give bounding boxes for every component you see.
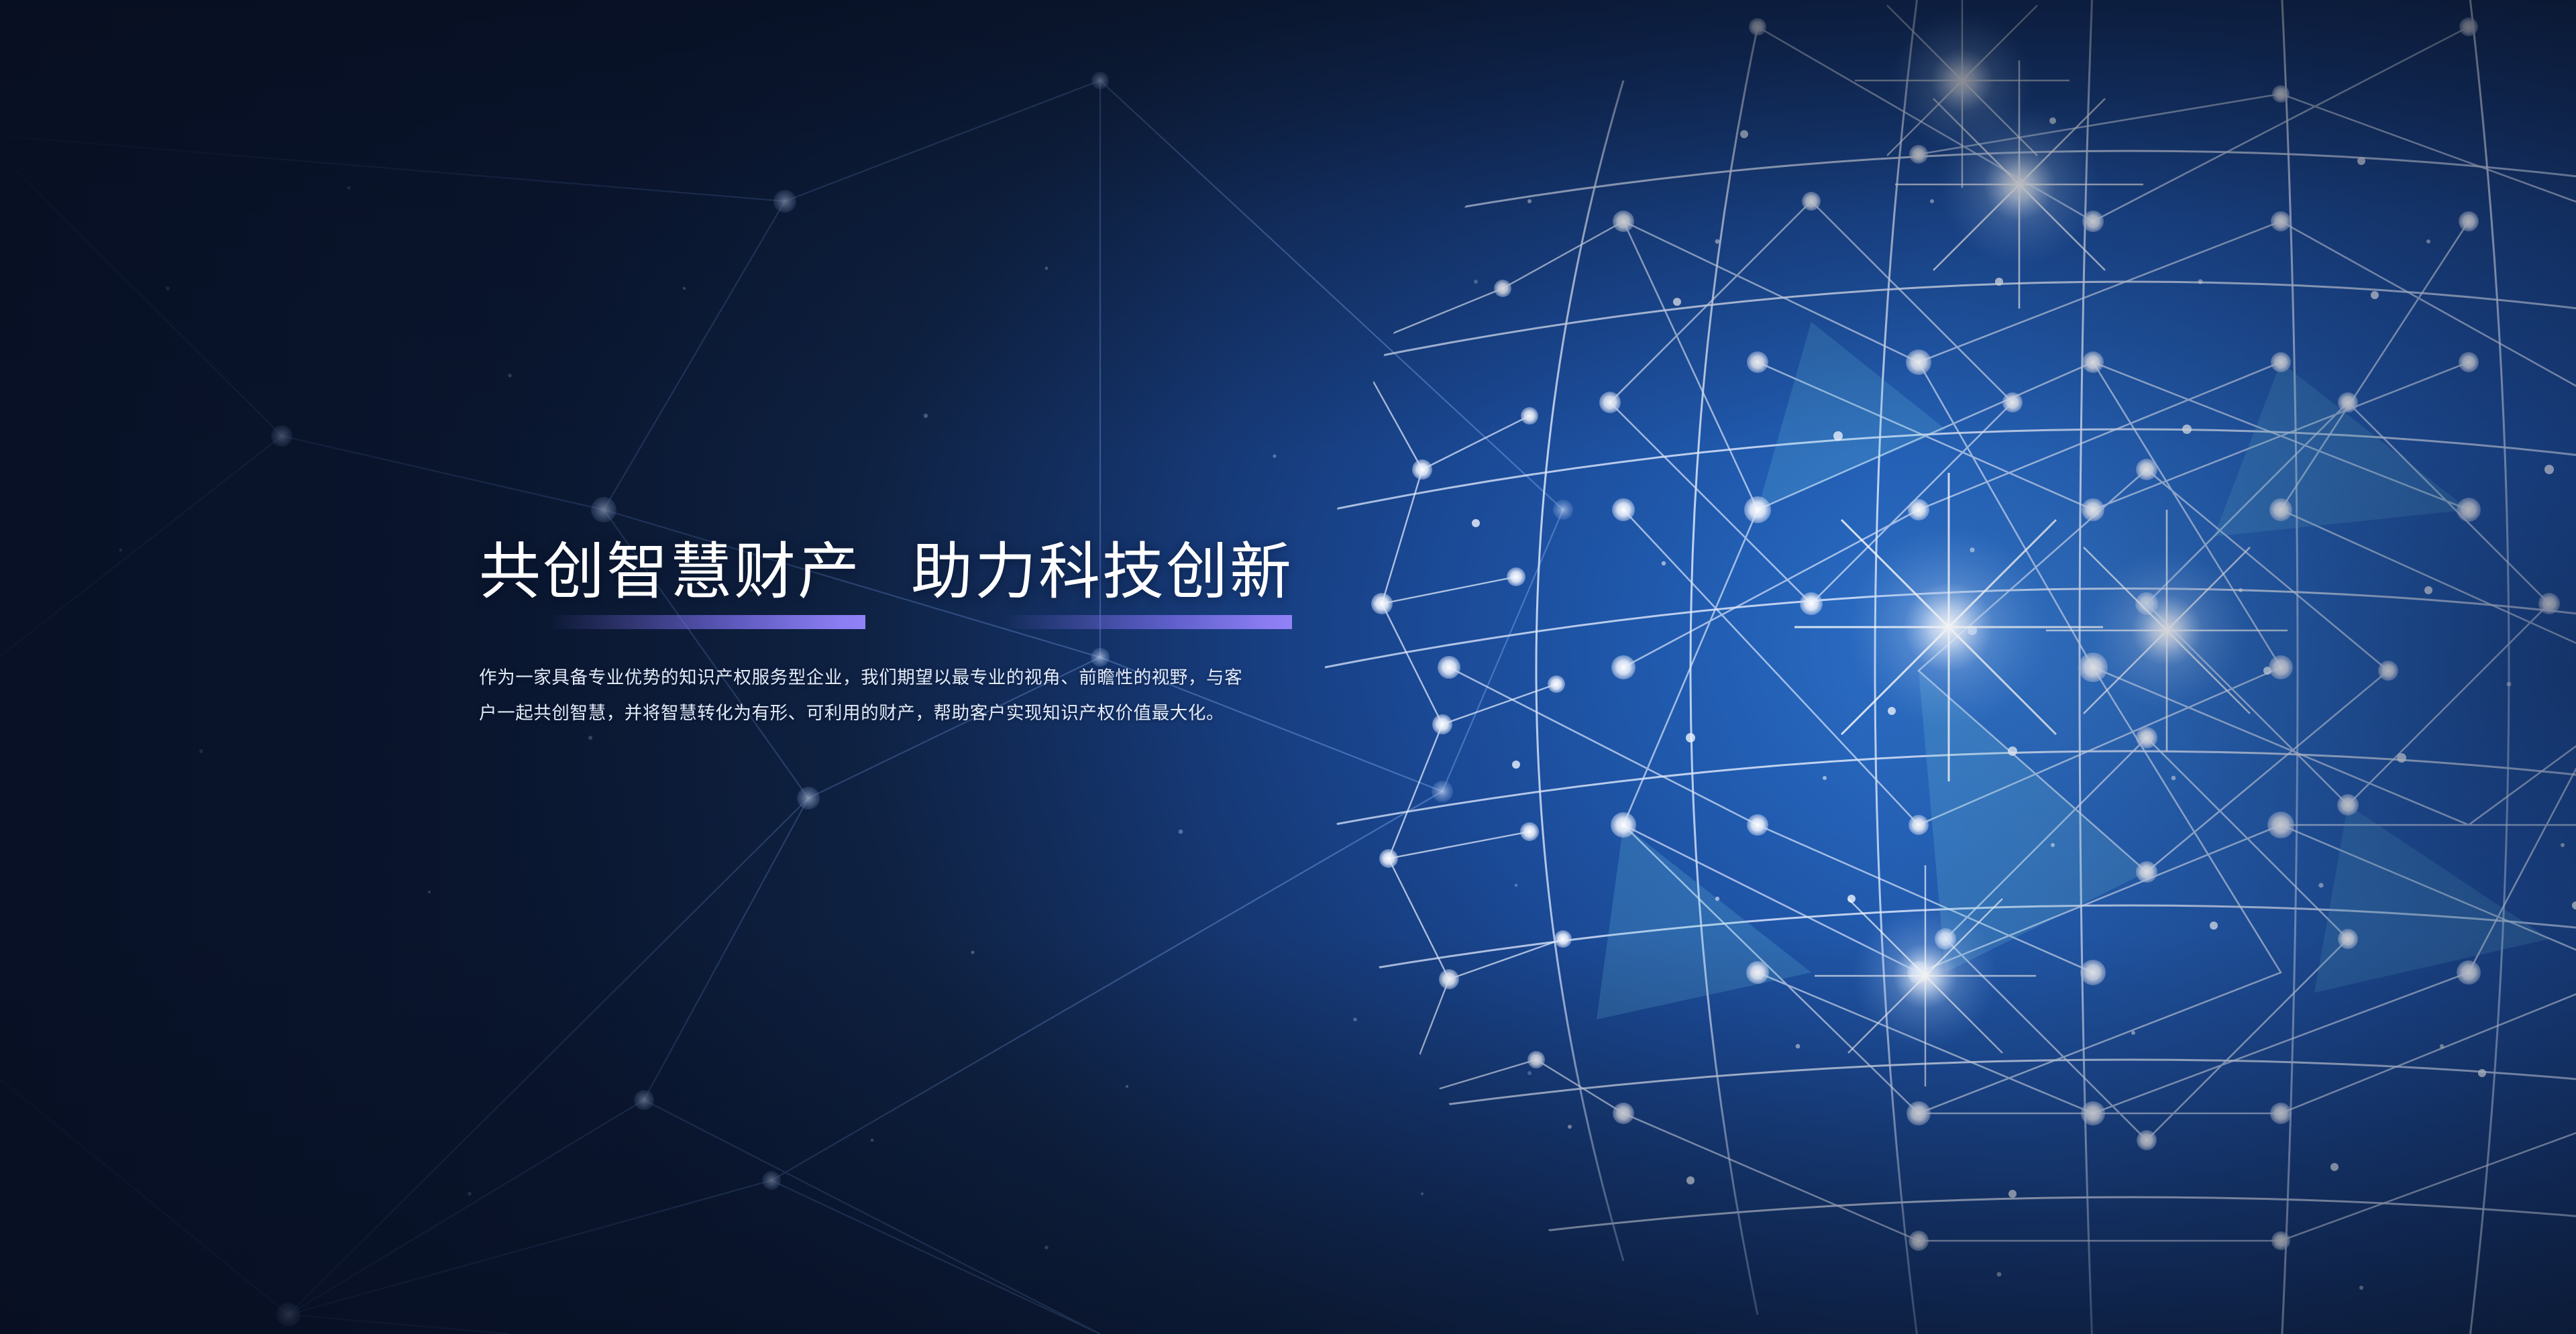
hero-text-block: 共创智慧财产 助力科技创新 作为一家具备专业优势的知识产权服务型企业，我们期望以… <box>479 541 1458 749</box>
headline-segment-one-text: 共创智慧财产 <box>479 538 861 606</box>
accent-underline-two <box>1003 615 1292 629</box>
headline-segment-two: 助力科技创新 <box>911 541 1293 605</box>
headline-segment-one: 共创智慧财产 <box>479 541 861 605</box>
accent-underline-one <box>548 615 865 629</box>
hero-description: 作为一家具备专业优势的知识产权服务型企业，我们期望以最专业的视角、前瞻性的视野，… <box>479 660 1244 732</box>
headline-segment-two-text: 助力科技创新 <box>911 538 1293 606</box>
hero-banner: 共创智慧财产 助力科技创新 作为一家具备专业优势的知识产权服务型企业，我们期望以… <box>0 0 2576 1334</box>
page-title: 共创智慧财产 助力科技创新 <box>479 541 1458 605</box>
